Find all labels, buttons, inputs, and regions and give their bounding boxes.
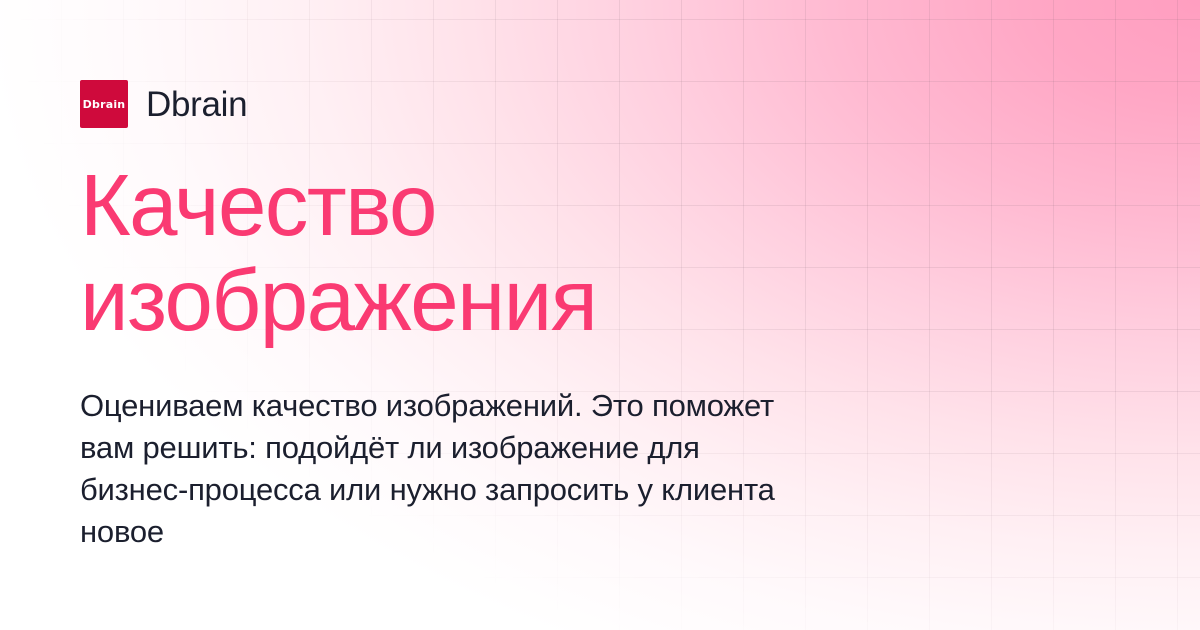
page-description: Оцениваем качество изображений. Это помо… (80, 385, 810, 553)
page-title: Качество изображения (80, 158, 1030, 348)
brand-wordmark: Dbrain (146, 87, 247, 122)
promo-banner: Dbrain Dbrain Качество изображения Оцени… (0, 0, 1200, 630)
brand-lockup: Dbrain Dbrain (80, 80, 247, 128)
logo-mark-label: Dbrain (83, 99, 126, 110)
content-container: Dbrain Dbrain Качество изображения Оцени… (80, 0, 1120, 630)
dbrain-logo-icon: Dbrain (80, 80, 128, 128)
